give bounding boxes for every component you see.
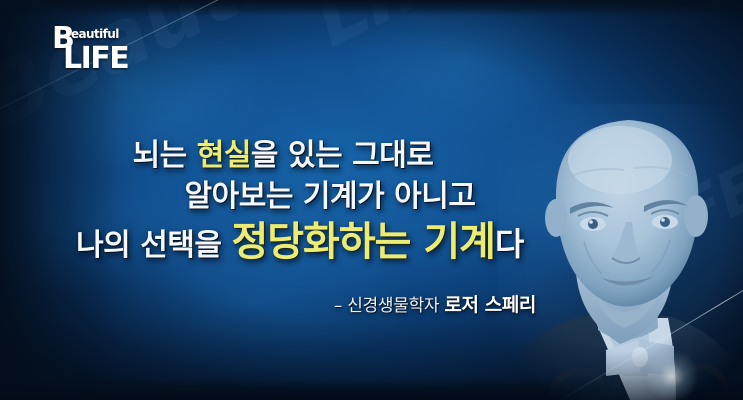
quote-line-2: 알아보는 기계가 아니고 [100,181,560,213]
logo-word-large: LIFE [63,44,128,74]
quote-line1-seg1: 뇌는 [133,138,197,173]
background-top-bar [0,0,743,16]
attribution-role: 신경생물학자 [347,296,439,316]
quote-line-1: 뇌는 현실을 있는 그대로 [6,140,560,172]
attribution-dash: – [334,296,347,316]
quote-block: 뇌는 현실을 있는 그대로 알아보는 기계가 아니고 나의 선택을 정당화하는 … [0,140,560,263]
logo-word-small: eautiful [71,28,119,40]
quote-card-screen: Beautiful LIFE LIFE [0,0,743,400]
quote-line2-seg1: 알아보는 기계가 아니고 [185,179,476,214]
quote-line3-seg1: 나의 선택을 [76,228,231,263]
quote-line-3: 나의 선택을 정당화하는 기계다 [40,221,560,263]
quote-line3-highlight: 정당화하는 기계 [231,219,495,265]
attribution-name: 로저 스페리 [444,294,536,316]
attribution: – 신경생물학자 로저 스페리 [0,290,536,317]
quote-line1-seg3: 을 있는 그대로 [251,138,434,173]
quote-line1-highlight: 현실 [197,138,251,173]
channel-logo[interactable]: B eautiful LIFE [52,24,148,78]
quote-line3-seg3: 다 [495,225,524,263]
